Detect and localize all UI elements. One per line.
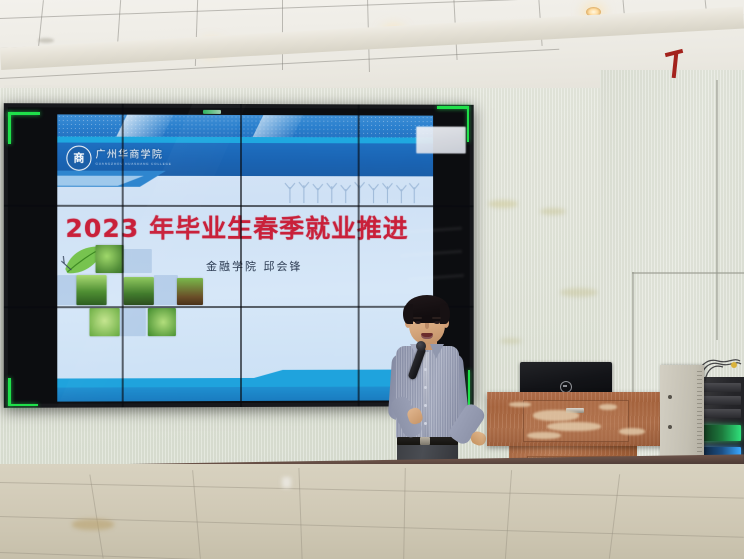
mosaic-tile <box>154 275 178 305</box>
presenter-eyebrow-left <box>413 317 422 319</box>
podium-paint-wear <box>533 410 579 421</box>
slide-title: 2023 年毕业生春季就业推进 <box>65 209 425 245</box>
mosaic-tile <box>120 308 146 336</box>
podium-paint-wear <box>509 402 531 407</box>
presenter-mouth <box>421 333 433 339</box>
microphone-capsule-icon <box>416 341 426 351</box>
rack-unit <box>703 409 741 418</box>
video-wall-panel-seam <box>358 104 360 406</box>
mosaic-photo-tile <box>96 245 124 273</box>
presenter-hair-side-right <box>440 304 450 324</box>
floor-tile-joint <box>0 482 744 499</box>
podium-paint-wear <box>547 422 601 431</box>
floor-stain <box>72 519 114 530</box>
belt-buckle <box>420 437 430 445</box>
presenter-eyebrow-right <box>432 317 441 319</box>
wall-scuff <box>540 208 566 215</box>
podium-paint-wear <box>619 428 645 435</box>
presenter-hand-right <box>469 430 488 448</box>
mosaic-photo-tile <box>90 308 120 336</box>
floor-tile-joint <box>609 474 621 559</box>
red-arrow-wall-mark <box>665 48 687 78</box>
podium-paint-wear <box>527 432 561 439</box>
mosaic-photo-tile <box>177 278 203 305</box>
logo-emblem-icon: 商 <box>66 146 91 171</box>
floor <box>0 464 744 559</box>
rack-unit <box>703 383 741 392</box>
ceiling-smudge <box>38 38 54 43</box>
slide-banner-dot-texture <box>57 114 433 137</box>
logo-name-cn: 广州华商学院 <box>96 151 172 161</box>
floor-tile-joint <box>403 468 406 559</box>
presenter-hair-side-left <box>403 304 413 324</box>
rack-door-fastener <box>668 395 672 399</box>
logo-glyph: 商 <box>73 153 84 164</box>
desktop-monitor[interactable] <box>520 362 612 396</box>
wall-scuff <box>500 338 522 344</box>
mosaic-tile <box>122 249 152 273</box>
video-wall-panel-seam <box>122 104 124 408</box>
shirt-button <box>424 368 427 371</box>
shirt-placket <box>423 352 429 440</box>
mosaic-photo-tile <box>124 277 154 305</box>
wall-scuff <box>560 288 598 297</box>
podium-top-desk <box>487 392 680 446</box>
video-wall-status-light <box>203 110 221 114</box>
rack-door-fastener <box>668 425 672 429</box>
logo-wordmark: 广州华商学院 GUANGZHOU HUASHANG COLLEGE <box>96 151 172 166</box>
floor-tile-joint <box>0 552 744 559</box>
floor-tile-joint <box>192 470 201 559</box>
floor-tile-joint <box>505 470 512 559</box>
floor-patch <box>282 477 291 488</box>
rack-led-strip-green <box>703 425 741 441</box>
slide-sprout-ornament-icon <box>284 179 419 203</box>
rack-unit <box>703 396 741 405</box>
video-wall-panel-seam <box>240 104 242 407</box>
shirt-button <box>424 404 427 407</box>
shirt-button <box>424 386 427 389</box>
slide-subtitle: 金融学院 邱会锋 <box>206 258 302 274</box>
wall-scuff <box>488 200 518 208</box>
video-wall-window-reflection <box>416 127 466 154</box>
photo-scene: 商 广州华商学院 GUANGZHOU HUASHANG COLLEGE 2023… <box>0 0 744 559</box>
floor-tile-joint <box>89 474 103 558</box>
wall-panel-seam <box>632 272 744 274</box>
presenter-nose <box>425 323 429 329</box>
wall-corner-seam <box>716 80 718 340</box>
mosaic-photo-tile <box>76 275 106 305</box>
shirt-button <box>424 422 427 425</box>
logo-name-en: GUANGZHOU HUASHANG COLLEGE <box>96 163 172 166</box>
podium-paint-wear <box>599 404 617 410</box>
presenter-eye-right <box>434 321 440 324</box>
presenter-eye-left <box>415 321 421 324</box>
floor-tile-joint <box>298 468 302 559</box>
mosaic-photo-tile <box>148 308 176 336</box>
institution-logo: 商 广州华商学院 GUANGZHOU HUASHANG COLLEGE <box>66 146 171 171</box>
